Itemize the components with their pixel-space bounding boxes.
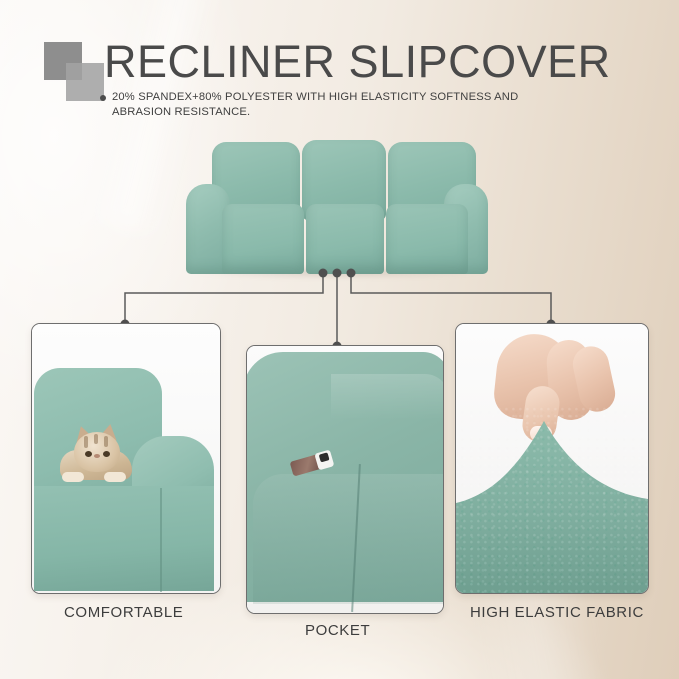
feature-label-comfortable: COMFORTABLE bbox=[64, 604, 183, 621]
kitten-stripe bbox=[94, 434, 98, 444]
sofa-seat-left bbox=[222, 204, 304, 274]
fabric-texture bbox=[456, 407, 648, 593]
feature-card-comfortable bbox=[31, 323, 221, 594]
subtitle-text: 20% SPANDEX+80% POLYESTER WITH HIGH ELAS… bbox=[112, 90, 540, 120]
kitten-eye-right bbox=[103, 451, 110, 457]
infographic-page: RECLINER SLIPCOVER 20% SPANDEX+80% POLYE… bbox=[0, 0, 679, 679]
kitten-paw-right bbox=[104, 472, 126, 482]
kitten-nose bbox=[94, 454, 100, 458]
connector-node-sofa-left bbox=[319, 269, 328, 278]
subtitle-row: 20% SPANDEX+80% POLYESTER WITH HIGH ELAS… bbox=[100, 90, 540, 120]
feature-label-elastic: HIGH ELASTIC FABRIC bbox=[470, 604, 644, 621]
logo-square-front bbox=[66, 63, 104, 101]
kitten-stripe bbox=[84, 436, 88, 448]
kitten-stripe bbox=[104, 436, 108, 447]
overlapping-squares-logo bbox=[44, 42, 106, 104]
armrest-fold-shading bbox=[253, 474, 443, 604]
armrest-top-highlight bbox=[331, 374, 444, 420]
page-title: RECLINER SLIPCOVER bbox=[104, 38, 611, 85]
kitten-paw-left bbox=[62, 472, 84, 482]
chair-seam bbox=[160, 488, 162, 592]
kitten-eye-left bbox=[85, 451, 92, 457]
feature-card-elastic bbox=[455, 323, 649, 594]
hero-sofa-image bbox=[186, 140, 488, 274]
chair-seat bbox=[34, 486, 214, 591]
sofa-seat-middle bbox=[306, 204, 384, 274]
feature-label-pocket: POCKET bbox=[305, 622, 370, 639]
feature-card-pocket bbox=[246, 345, 444, 614]
sofa-seat-right bbox=[386, 204, 468, 274]
stretched-fabric bbox=[456, 407, 648, 593]
bullet-dot-icon bbox=[100, 95, 106, 101]
connector-node-sofa-right bbox=[347, 269, 356, 278]
kitten-head bbox=[74, 432, 120, 472]
kitten-illustration bbox=[60, 424, 146, 486]
connector-node-sofa-middle bbox=[333, 269, 342, 278]
